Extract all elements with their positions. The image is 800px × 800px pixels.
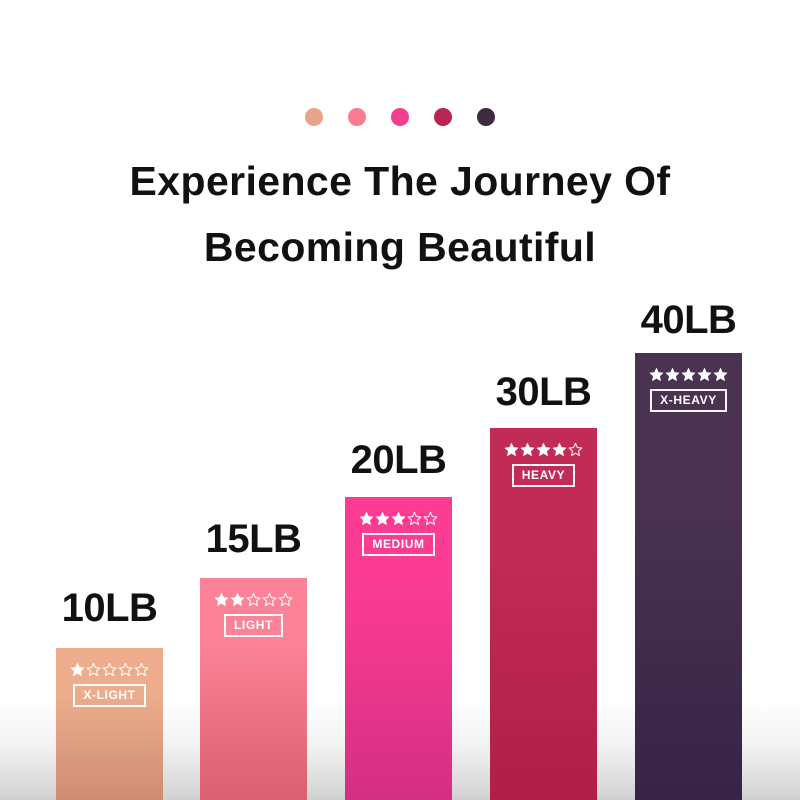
bar-column[interactable]: HEAVY <box>490 428 597 800</box>
resistance-badge: HEAVY <box>512 464 575 487</box>
bar-group-40lb[interactable]: 40LBX-HEAVY <box>635 0 742 800</box>
bar-column[interactable]: X-LIGHT <box>56 648 163 800</box>
bar-content: LIGHT <box>200 592 307 637</box>
star-rating <box>214 592 293 607</box>
bar-weight-label: 20LB <box>351 440 447 480</box>
resistance-badge: MEDIUM <box>362 533 434 556</box>
resistance-badge: X-HEAVY <box>650 389 727 412</box>
bar-weight-label: 30LB <box>496 372 592 412</box>
star-filled-icon <box>552 442 567 457</box>
bar-column[interactable]: X-HEAVY <box>635 353 742 800</box>
bar-weight-label: 40LB <box>641 300 737 340</box>
bar-content: HEAVY <box>490 442 597 487</box>
bar-group-30lb[interactable]: 30LBHEAVY <box>490 0 597 800</box>
star-filled-icon <box>375 511 390 526</box>
bar-group-10lb[interactable]: 10LBX-LIGHT <box>56 0 163 800</box>
star-filled-icon <box>391 511 406 526</box>
bar-group-15lb[interactable]: 15LBLIGHT <box>200 0 307 800</box>
star-filled-icon <box>665 367 680 382</box>
star-empty-icon <box>407 511 422 526</box>
bar-column[interactable]: LIGHT <box>200 578 307 800</box>
star-filled-icon <box>681 367 696 382</box>
bar-content: X-HEAVY <box>635 367 742 412</box>
resistance-badge: LIGHT <box>224 614 283 637</box>
bar-column[interactable]: MEDIUM <box>345 497 452 800</box>
bar-weight-label: 10LB <box>62 588 158 628</box>
star-filled-icon <box>649 367 664 382</box>
star-filled-icon <box>536 442 551 457</box>
star-empty-icon <box>118 662 133 677</box>
resistance-bar-chart: 10LBX-LIGHT15LBLIGHT20LBMEDIUM30LBHEAVY4… <box>0 0 800 800</box>
star-empty-icon <box>278 592 293 607</box>
bar-content: X-LIGHT <box>56 662 163 707</box>
bar-content: MEDIUM <box>345 511 452 556</box>
star-empty-icon <box>102 662 117 677</box>
product-poster: Experience The Journey Of Becoming Beaut… <box>0 0 800 800</box>
star-rating <box>649 367 728 382</box>
star-filled-icon <box>70 662 85 677</box>
star-rating <box>359 511 438 526</box>
star-rating <box>504 442 583 457</box>
star-rating <box>70 662 149 677</box>
star-empty-icon <box>262 592 277 607</box>
star-empty-icon <box>246 592 261 607</box>
star-empty-icon <box>134 662 149 677</box>
bar-group-20lb[interactable]: 20LBMEDIUM <box>345 0 452 800</box>
star-filled-icon <box>214 592 229 607</box>
bar-weight-label: 15LB <box>206 519 302 559</box>
resistance-badge: X-LIGHT <box>73 684 145 707</box>
star-filled-icon <box>697 367 712 382</box>
star-filled-icon <box>359 511 374 526</box>
star-filled-icon <box>230 592 245 607</box>
star-filled-icon <box>520 442 535 457</box>
star-empty-icon <box>568 442 583 457</box>
star-filled-icon <box>713 367 728 382</box>
star-empty-icon <box>86 662 101 677</box>
star-empty-icon <box>423 511 438 526</box>
star-filled-icon <box>504 442 519 457</box>
